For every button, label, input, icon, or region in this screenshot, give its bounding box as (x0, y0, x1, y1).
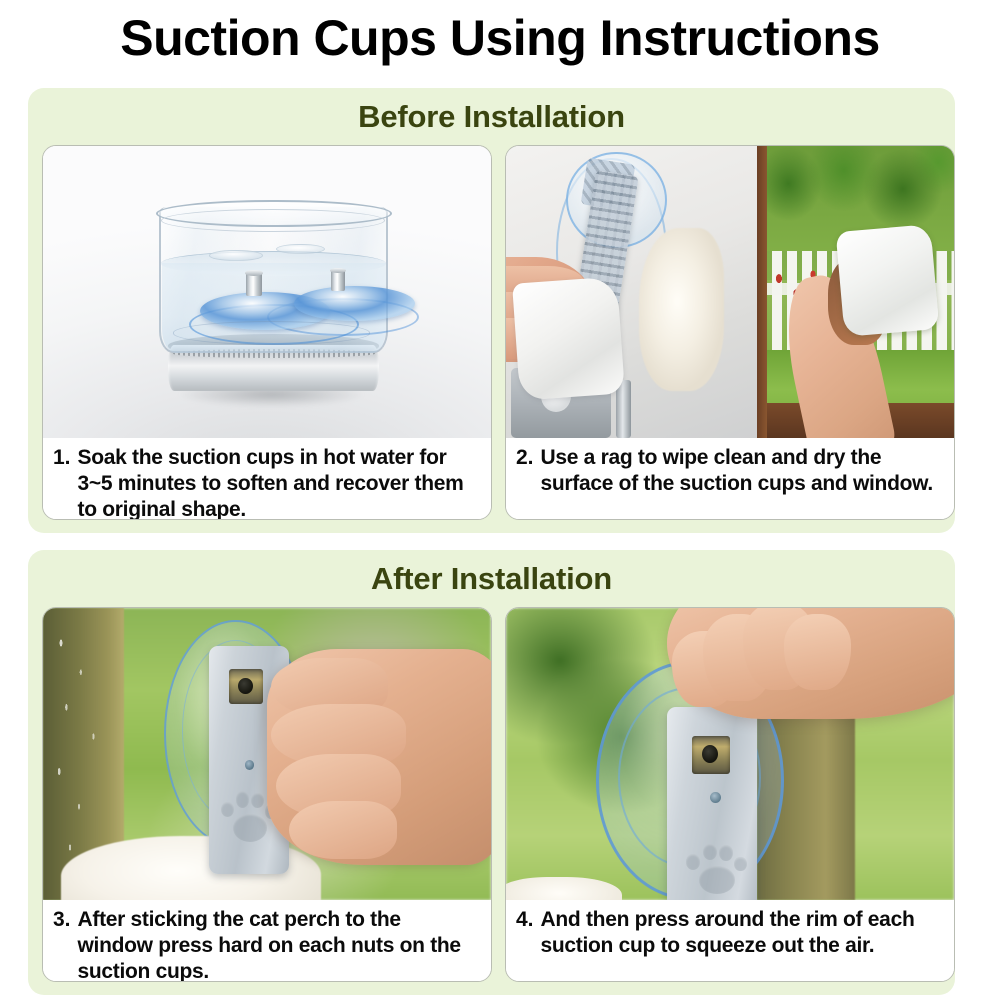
section-heading-before: Before Installation (28, 98, 955, 136)
section-before-installation: Before Installation (28, 88, 955, 533)
photo1-scene (43, 146, 491, 438)
photo-press-rim (506, 608, 954, 900)
step-text-3: After sticking the cat perch to the wind… (78, 907, 481, 982)
paw-toe-4 (734, 857, 747, 872)
paw-toe-1 (686, 854, 700, 869)
step-text-1: Soak the suction cups in hot water for 3… (78, 445, 481, 520)
instruction-card-2: 2. Use a rag to wipe clean and dry the s… (505, 145, 955, 520)
finger-4 (289, 801, 397, 859)
page-title: Suction Cups Using Instructions (0, 8, 1000, 68)
instruction-card-3: 3. After sticking the cat perch to the w… (42, 607, 492, 982)
suction-cup-bolt-1 (246, 273, 261, 296)
paw-toe-2 (236, 791, 249, 807)
photo-press-nuts (43, 608, 491, 900)
caption-4: 4. And then press around the rim of each… (506, 900, 954, 981)
paw-print-emboss (685, 842, 748, 900)
step-number-2: 2. (516, 445, 541, 471)
paw-toe-3 (719, 845, 733, 861)
water-surface (161, 251, 386, 276)
finger-4 (784, 614, 851, 690)
paw-pad (233, 814, 267, 842)
photo-soak-suction-cups (43, 146, 491, 438)
instruction-infographic: Suction Cups Using Instructions Before I… (0, 0, 1000, 1000)
photo-wipe-cups-and-window (506, 146, 954, 438)
bolt-head-2 (330, 268, 346, 273)
step-number-1: 1. (53, 445, 78, 471)
section-after-installation: After Installation (28, 550, 955, 995)
bowl-inner-ring (173, 321, 370, 344)
white-fur-perch (639, 228, 724, 392)
window-frame-left (757, 146, 767, 438)
instruction-card-4: 4. And then press around the rim of each… (505, 607, 955, 982)
nut-hole (238, 678, 252, 694)
submerged-cup-top-1 (209, 250, 263, 262)
suction-cup-bolt-2 (331, 270, 344, 290)
photo3-scene (43, 608, 491, 900)
blue-suction-cup-2 (294, 286, 415, 321)
metal-clip (616, 380, 631, 438)
paw-pad (699, 866, 735, 894)
caption-3: 3. After sticking the cat perch to the w… (43, 900, 491, 982)
step-number-3: 3. (53, 907, 78, 933)
photo2-right-wiping-window (757, 146, 954, 438)
step-number-4: 4. (516, 907, 541, 933)
white-cloth-left (512, 277, 625, 401)
photo2-scene (506, 146, 954, 438)
step-text-4: And then press around the rim of each su… (541, 907, 944, 959)
bracket-screw-dot (710, 792, 721, 803)
white-cloth-right (835, 224, 938, 337)
photo2-left-wiping-cup (506, 146, 757, 438)
paw-toe-2 (703, 844, 717, 860)
step-text-2: Use a rag to wipe clean and dry the surf… (541, 445, 944, 497)
caption-2: 2. Use a rag to wipe clean and dry the s… (506, 438, 954, 519)
photo4-scene (506, 608, 954, 900)
paw-toe-3 (251, 793, 264, 809)
paw-toe-1 (221, 802, 234, 817)
caption-1: 1. Soak the suction cups in hot water fo… (43, 438, 491, 520)
section-heading-after: After Installation (28, 560, 955, 598)
instruction-card-1: 1. Soak the suction cups in hot water fo… (42, 145, 492, 520)
